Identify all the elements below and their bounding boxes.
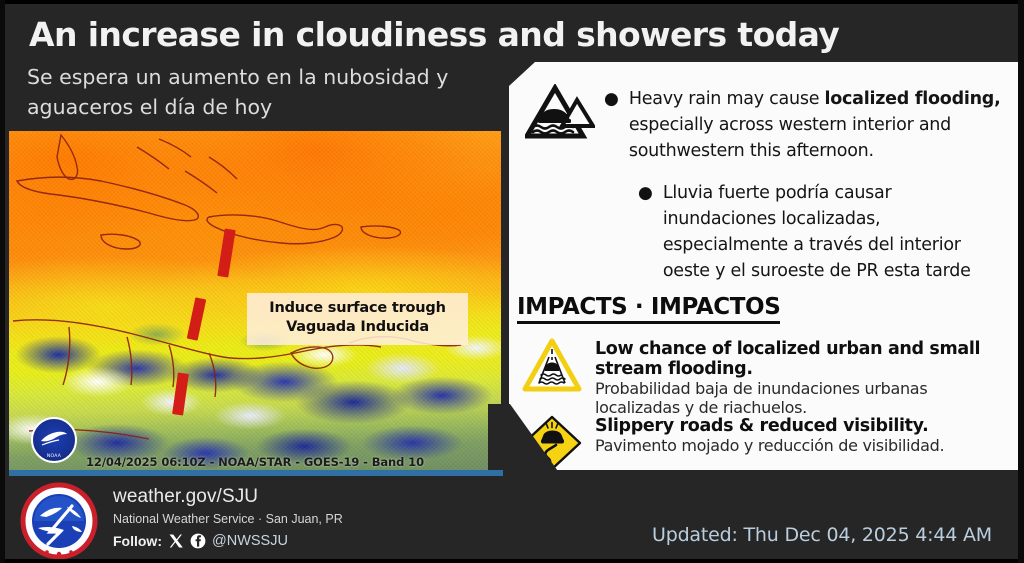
impacts-heading: IMPACTS · IMPACTOS [517,294,780,324]
page-title: An increase in cloudiness and showers to… [29,12,929,58]
noaa-bird-glyph [39,428,69,450]
frame-left-edge [0,0,5,563]
footer-office: National Weather Service · San Juan, PR [113,512,343,526]
trough-annotation-label: Induce surface trough Vaguada Inducida [247,293,468,345]
bullet-dot-icon: ● [638,180,653,284]
bullet-list: ● Heavy rain may cause localized floodin… [604,86,1004,300]
x-twitter-icon[interactable] [168,533,184,549]
bullet-text-es: Lluvia fuerte podría causar inundaciones… [663,180,1004,284]
footer-accent-line [9,470,503,476]
frame-right-edge [1018,0,1024,563]
footer-website[interactable]: weather.gov/SJU [113,486,258,508]
bullet-en-bold: localized flooding, [825,89,1001,109]
updated-timestamp: Updated: Thu Dec 04, 2025 4:44 AM [652,524,992,546]
vehicle-flood-warning-icon [525,84,595,146]
frame-top-edge [0,0,1024,4]
impact-headline: Low chance of localized urban and small … [595,339,1011,379]
facebook-icon[interactable] [190,533,206,549]
weather-graphic: An increase in cloudiness and showers to… [0,0,1024,563]
follow-label: Follow: [113,533,162,549]
satellite-caption: 12/04/2025 06:10Z - NOAA/STAR - GOES-19 … [9,455,501,469]
bullet-text-en: Heavy rain may cause localized flooding,… [629,86,1004,164]
trough-label-en: Induce surface trough [255,299,460,318]
impact-subline: Probabilidad baja de inundaciones urbana… [595,379,1011,417]
social-handle[interactable]: @NWSSJU [212,533,288,549]
bullet-en-before: Heavy rain may cause [629,89,825,109]
page-subtitle: Se espera un aumento en la nubosidad y a… [27,62,507,122]
impact-headline: Slippery roads & reduced visibility. [595,416,944,436]
impact-text-block: Slippery roads & reduced visibility. Pav… [595,414,944,455]
bullet-en-after: especially across western interior and s… [629,115,951,161]
subtitle-line-2: aguaceros el día de hoy [27,92,507,122]
subtitle-line-1: Se espera un aumento en la nubosidad y [27,62,507,92]
impact-row-urban-flooding: Low chance of localized urban and small … [521,337,1011,417]
impact-text-block: Low chance of localized urban and small … [595,337,1011,417]
bullet-item-es: ● Lluvia fuerte podría causar inundacion… [638,180,1004,284]
urban-flooding-icon [521,337,583,395]
satellite-image: Induce surface trough Vaguada Inducida N… [9,131,501,470]
bullet-dot-icon: ● [604,86,619,164]
nws-seal-logo [20,482,98,560]
footer-follow-row: Follow: @NWSSJU [113,533,288,549]
trough-label-es: Vaguada Inducida [255,318,460,337]
info-panel: ● Heavy rain may cause localized floodin… [509,62,1018,501]
impact-row-slippery-roads: Slippery roads & reduced visibility. Pav… [521,414,1011,472]
frame-bottom-edge [0,559,1024,563]
impact-subline: Pavimento mojado y reducción de visibili… [595,436,944,455]
bullet-item-en: ● Heavy rain may cause localized floodin… [604,86,1004,164]
